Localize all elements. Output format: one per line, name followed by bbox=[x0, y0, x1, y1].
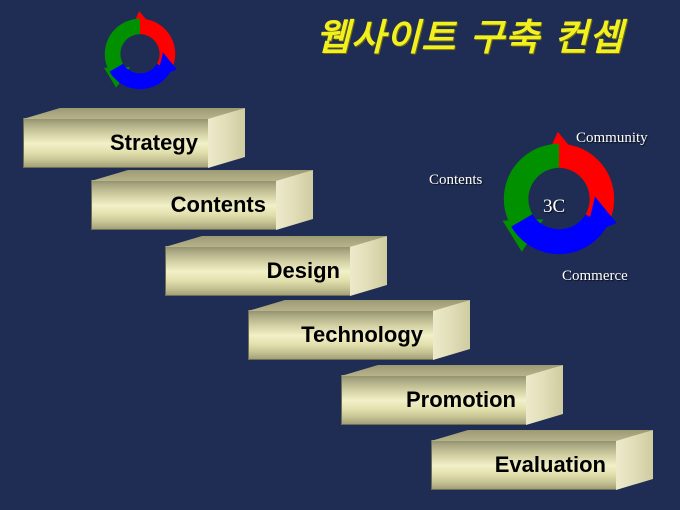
cycle-center-label: 3C bbox=[543, 196, 565, 218]
page-title: 웹사이트 구축 컨셉 bbox=[300, 18, 640, 59]
step-label: Promotion bbox=[341, 375, 516, 425]
3c-cycle-logo bbox=[92, 8, 188, 100]
step-block-technology[interactable]: Technology bbox=[248, 300, 470, 360]
step-label: Technology bbox=[248, 310, 423, 360]
slide-canvas: 웹사이트 구축 컨셉 bbox=[0, 0, 680, 510]
step-label: Strategy bbox=[23, 118, 198, 168]
step-block-promotion[interactable]: Promotion bbox=[341, 365, 563, 425]
cycle-logo-graphic bbox=[92, 8, 188, 100]
step-label: Evaluation bbox=[431, 440, 606, 490]
step-block-strategy[interactable]: Strategy bbox=[23, 108, 245, 168]
cycle-label-commerce: Commerce bbox=[562, 268, 628, 285]
step-block-evaluation[interactable]: Evaluation bbox=[431, 430, 653, 490]
step-label: Design bbox=[165, 246, 340, 296]
cycle-label-community: Community bbox=[576, 130, 648, 147]
step-label: Contents bbox=[91, 180, 266, 230]
step-block-design[interactable]: Design bbox=[165, 236, 387, 296]
cycle-label-contents: Contents bbox=[429, 172, 482, 189]
step-block-contents[interactable]: Contents bbox=[91, 170, 313, 230]
